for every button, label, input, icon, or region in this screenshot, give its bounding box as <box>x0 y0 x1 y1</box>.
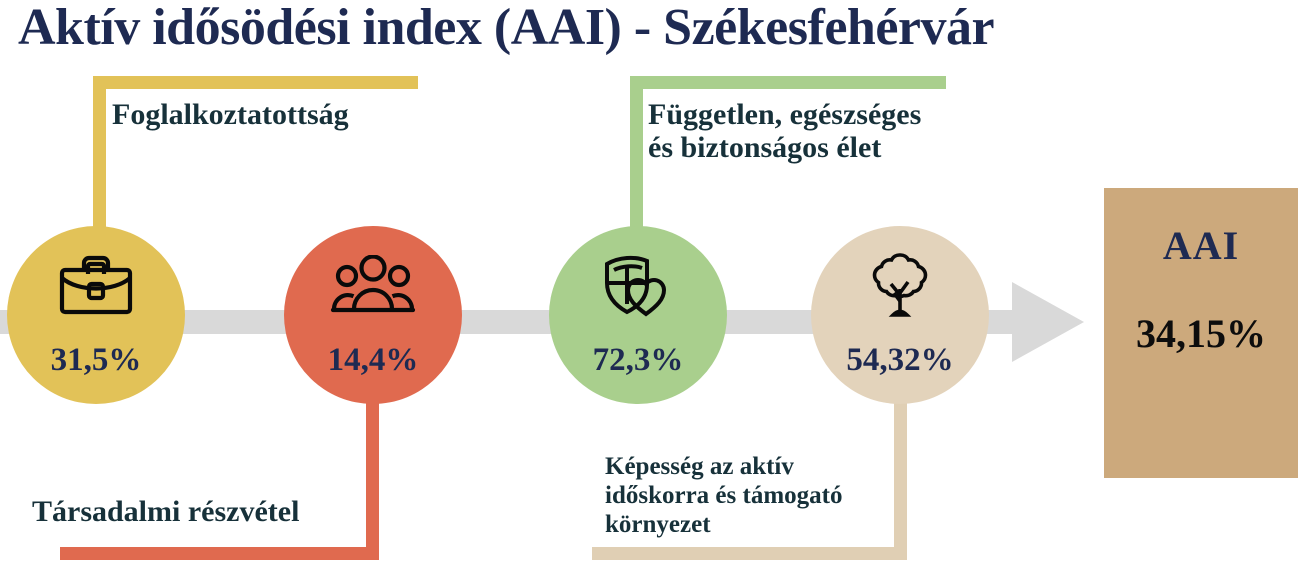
domain-value-employment: 31,5% <box>7 342 185 379</box>
domain-circle-capacity[interactable]: 54,32% <box>811 226 989 404</box>
domain-label-social-text: Társadalmi részvétel <box>32 495 299 528</box>
people-group-icon <box>284 246 462 324</box>
domain-label-employment-text: Foglalkoztatottság <box>112 98 349 131</box>
domain-label-employment: Foglalkoztatottság <box>112 98 442 131</box>
domain-label-capacity-line3: környezet <box>605 510 925 539</box>
aai-result-title: AAI <box>1104 222 1298 269</box>
aai-result-value: 34,15% <box>1104 310 1298 357</box>
connector-social-horizontal <box>60 547 379 560</box>
domain-label-capacity-line1: Képesség az aktív <box>605 452 925 481</box>
domain-circle-employment[interactable]: 31,5% <box>7 226 185 404</box>
domain-value-social-participation: 14,4% <box>284 342 462 379</box>
connector-employment-horizontal <box>93 76 418 89</box>
domain-label-independent-life: Független, egészséges és biztonságos éle… <box>648 98 1018 164</box>
domain-value-capacity: 54,32% <box>811 342 989 379</box>
domain-circle-independent-life[interactable]: 72,3% <box>549 226 727 404</box>
page-title: Aktív idősödési index (AAI) - Székesfehé… <box>18 0 1288 57</box>
shield-heart-icon <box>549 246 727 324</box>
aai-result-box: AAI 34,15% <box>1104 188 1298 478</box>
tree-icon <box>811 246 989 324</box>
connector-capacity-horizontal <box>592 547 907 560</box>
connector-independent-vertical <box>630 76 643 241</box>
briefcase-icon <box>7 246 185 324</box>
domain-label-independent-line2: és biztonságos élet <box>648 131 1018 164</box>
domain-label-capacity-line2: időskorra és támogató <box>605 481 925 510</box>
domain-label-independent-line1: Független, egészséges <box>648 98 1018 131</box>
infographic-canvas: Aktív idősödési index (AAI) - Székesfehé… <box>0 0 1300 574</box>
connector-independent-horizontal <box>630 76 946 89</box>
domain-label-capacity: Képesség az aktív időskorra és támogató … <box>605 452 925 539</box>
domain-circle-social-participation[interactable]: 14,4% <box>284 226 462 404</box>
domain-label-social-participation: Társadalmi részvétel <box>32 495 392 528</box>
domain-value-independent-life: 72,3% <box>549 342 727 379</box>
flow-arrow-head <box>1012 282 1084 362</box>
